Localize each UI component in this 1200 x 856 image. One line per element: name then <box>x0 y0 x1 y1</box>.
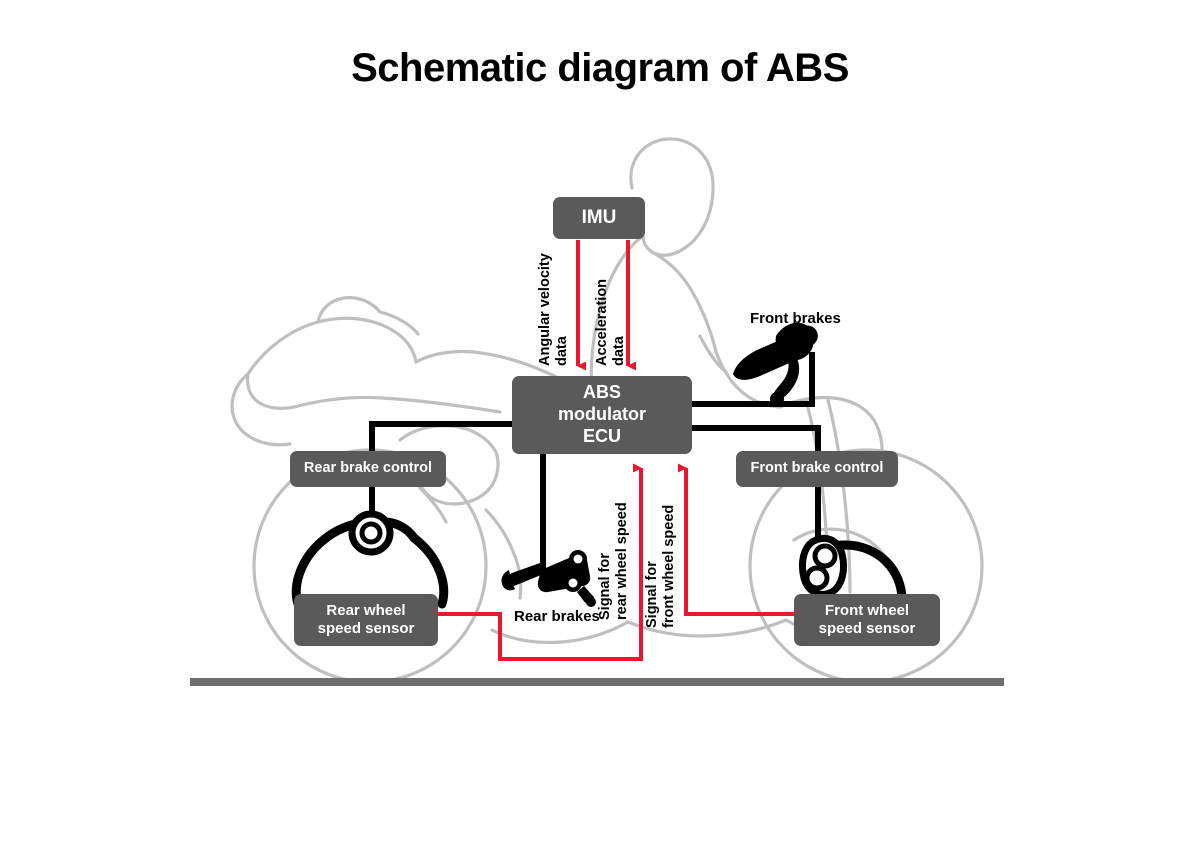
abs-ecu-label-line2: modulator <box>558 404 646 426</box>
signal-front-line2: front wheel speed <box>661 505 678 628</box>
signal-front-wheel-speed-label: Signal for front wheel speed <box>644 505 678 628</box>
acceleration-line1: Acceleration <box>594 279 611 366</box>
rear-wheel-speed-sensor-box[interactable]: Rear wheel speed sensor <box>294 594 438 646</box>
rear-brake-control-label: Rear brake control <box>304 460 432 478</box>
front-brakes-label: Front brakes <box>750 310 841 327</box>
imu-box[interactable]: IMU <box>553 197 645 239</box>
rear-wheel-sensor-label-line2: speed sensor <box>318 620 415 638</box>
abs-ecu-label-line1: ABS <box>583 382 621 404</box>
front-brake-control-label: Front brake control <box>751 460 884 478</box>
angular-velocity-data-label: Angular velocity data <box>537 253 571 366</box>
angular-velocity-line2: data <box>554 253 571 366</box>
angular-velocity-line1: Angular velocity <box>537 253 554 366</box>
signal-front-line1: Signal for <box>644 505 661 628</box>
signal-rear-wheel-speed-label: Signal for rear wheel speed <box>597 502 631 620</box>
front-wheel-sensor-label-line2: speed sensor <box>819 620 916 638</box>
signal-rear-line1: Signal for <box>597 502 614 620</box>
abs-ecu-label-line3: ECU <box>583 426 621 448</box>
acceleration-data-label: Acceleration data <box>594 279 628 366</box>
acceleration-line2: data <box>611 279 628 366</box>
front-brake-caliper-icon <box>802 538 902 600</box>
rear-brake-control-box[interactable]: Rear brake control <box>290 451 446 487</box>
front-wheel-speed-sensor-box[interactable]: Front wheel speed sensor <box>794 594 940 646</box>
rear-wheel-sensor-label-line1: Rear wheel <box>326 602 405 620</box>
diagram-page: Schematic diagram of ABS <box>0 0 1200 856</box>
abs-modulator-ecu-box[interactable]: ABS modulator ECU <box>512 376 692 454</box>
imu-box-label: IMU <box>582 206 617 229</box>
signal-rear-line2: rear wheel speed <box>614 502 631 620</box>
front-brake-control-box[interactable]: Front brake control <box>736 451 898 487</box>
rear-brake-disc-icon <box>296 514 443 604</box>
front-wheel-sensor-label-line1: Front wheel <box>825 602 909 620</box>
rear-brakes-label: Rear brakes <box>514 608 600 625</box>
